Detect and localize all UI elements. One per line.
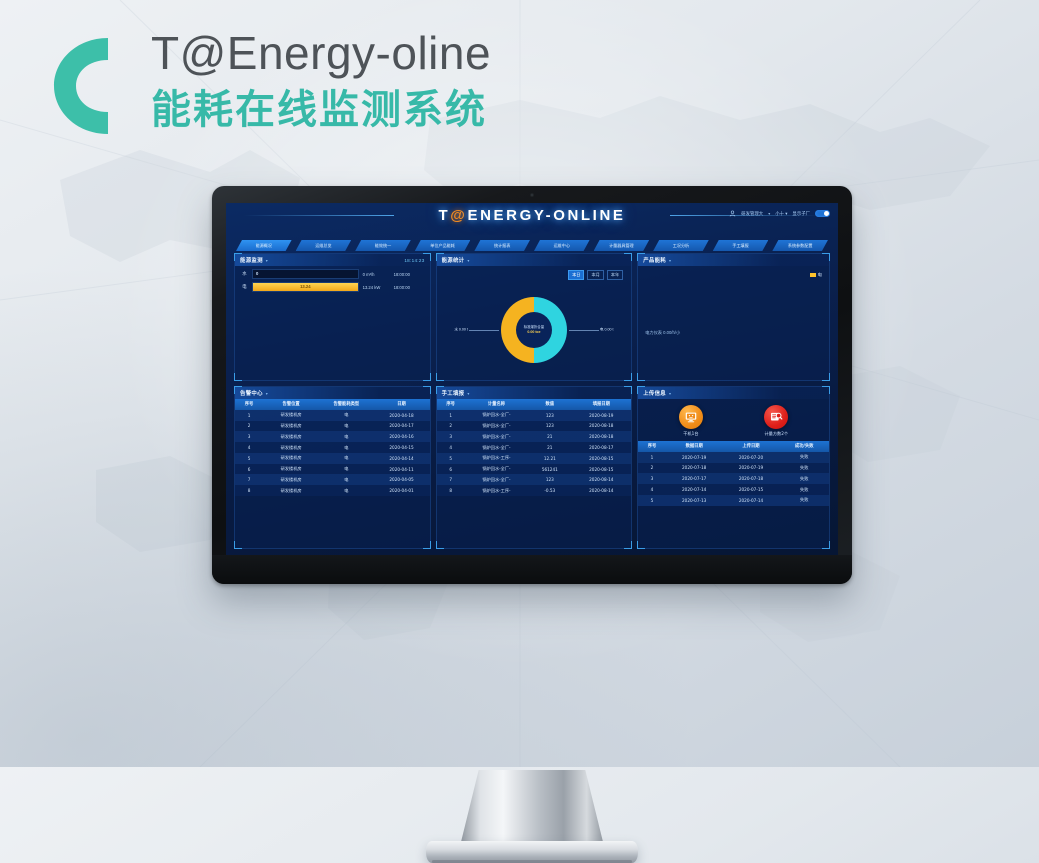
cell-value: 12.21 <box>528 453 571 464</box>
cell-data-date: 2020-07-19 <box>666 452 723 463</box>
panel-header: 产品能耗 ▾ <box>638 254 829 266</box>
bar-value: 13.24 <box>253 283 358 291</box>
bar-timestamp: 18:00:00 <box>394 285 424 290</box>
cell-meter: 锅炉回水-全厂- <box>465 464 529 475</box>
col-date: 填报日期 <box>571 399 631 410</box>
brand-logo-icon <box>46 28 120 144</box>
bar-label: 电 <box>241 284 248 290</box>
nav-item-0[interactable]: 能源概况 <box>236 240 292 251</box>
monitor-stand-base <box>426 841 638 863</box>
cell-index: 3 <box>437 431 465 442</box>
cell-date: 2020-04-14 <box>373 453 429 464</box>
panel-body: 电 电力仪表 0.00/h/小 <box>638 266 829 380</box>
monitor-screen: T@ENERGY-ONLINE 研发管理大 ▾ 小十 ▾ 显示子厂 能源概况 运… <box>226 203 838 555</box>
panel-body: 序号 告警位置 告警能耗类型 日期 1研发楼机房电2020-04-18 2研发楼… <box>235 399 430 548</box>
panel-header: 告警中心 ▾ <box>235 387 430 399</box>
cell-date: 2020-08-15 <box>571 464 631 475</box>
header-wing-left <box>244 215 394 216</box>
table-row[interactable]: 5研发楼机房电2020-04-14 <box>235 453 430 464</box>
header-user-area[interactable]: 研发管理大 ▾ 小十 ▾ 显示子厂 <box>729 210 830 217</box>
cell-date: 2020-08-17 <box>571 442 631 453</box>
status-badge: 失败 <box>779 473 829 484</box>
cell-location: 研发楼机房 <box>263 474 319 485</box>
cell-location: 研发楼机房 <box>263 431 319 442</box>
col-date: 日期 <box>373 399 429 410</box>
panel-more-icon[interactable]: ▾ <box>669 258 671 263</box>
cell-index: 2 <box>437 421 465 432</box>
cell-type: 电 <box>319 421 373 432</box>
cell-date: 2020-08-14 <box>571 485 631 496</box>
panel-body: 水 0 0 m³/h 18:00:00 电 <box>235 266 430 380</box>
upload-card-label: 计量方数2个 <box>764 431 788 437</box>
panel-title: 能源监测 <box>240 256 263 264</box>
monitor: T@ENERGY-ONLINE 研发管理大 ▾ 小十 ▾ 显示子厂 能源概况 运… <box>212 186 852 584</box>
logo-at-icon: @ <box>450 207 467 224</box>
col-index: 序号 <box>638 441 666 452</box>
bar-track: 13.24 <box>252 282 359 292</box>
cell-upload-date: 2020-07-19 <box>723 463 780 474</box>
nav-item-5[interactable]: 运维中心 <box>534 240 590 251</box>
cell-index: 2 <box>638 463 666 474</box>
manual-entry-table: 序号 计量名称 数值 填报日期 1锅炉回水-全厂-1232020-08-19 2… <box>437 399 632 496</box>
segment-day[interactable]: 本日 <box>568 270 584 280</box>
document-search-icon-circle <box>764 405 788 429</box>
cell-index: 5 <box>235 453 263 464</box>
cell-index: 8 <box>235 485 263 496</box>
status-badge: 失败 <box>779 495 829 506</box>
table-row[interactable]: 12020-07-192020-07-20失败 <box>638 452 829 463</box>
panel-product-energy: 产品能耗 ▾ 电 电力仪表 0.00/h/小 <box>637 253 830 381</box>
panel-header: 能源统计 ▾ <box>437 254 632 266</box>
panel-more-icon[interactable]: ▾ <box>467 391 469 396</box>
product-energy-note: 电力仪表 0.00/h/小 <box>645 330 680 336</box>
user-name: 研发管理大 <box>741 211 763 217</box>
cell-meter: 锅炉回水-全厂- <box>465 410 529 421</box>
col-upload-date: 上传日期 <box>723 441 780 452</box>
nav-item-2[interactable]: 能效统一 <box>355 240 411 251</box>
upload-table-wrap: 序号 数据日期 上传日期 成功/失败 12020-07-192020-07-20… <box>638 441 829 506</box>
col-type: 告警能耗类型 <box>319 399 373 410</box>
cell-meter: 锅炉回水-全厂- <box>465 431 529 442</box>
clock-label: 18:14:23 <box>404 258 424 263</box>
panel-body: 序号 计量名称 数值 填报日期 1锅炉回水-全厂-1232020-08-19 2… <box>437 399 632 548</box>
donut-label-water: 水 0.00 t <box>454 328 468 333</box>
panel-title: 上传信息 <box>643 389 666 397</box>
panel-header: 上传信息 ▾ <box>638 387 829 399</box>
cell-index: 6 <box>437 464 465 475</box>
cell-date: 2020-08-18 <box>571 421 631 432</box>
main-nav: 能源概况 运维总览 能效统一 单位产品能耗 统计报表 运维中心 计量器具管理 工… <box>226 239 838 252</box>
panel-more-icon[interactable]: ▾ <box>266 258 268 263</box>
brand-title-en: T@Energy-oline <box>151 22 491 84</box>
cell-index: 3 <box>235 431 263 442</box>
upload-card-meters[interactable]: 计量方数2个 <box>764 405 788 437</box>
cell-meter: 锅炉回水-全厂- <box>465 442 529 453</box>
nav-item-9[interactable]: 系统参数配置 <box>772 240 828 251</box>
cell-index: 6 <box>235 464 263 475</box>
table-row[interactable]: 7锅炉回水-全厂-1232020-08-14 <box>437 474 632 485</box>
table-row[interactable]: 1研发楼机房电2020-04-18 <box>235 410 430 421</box>
cell-location: 研发楼机房 <box>263 442 319 453</box>
table-row[interactable]: 32020-07-172020-07-18失败 <box>638 473 829 484</box>
cell-index: 4 <box>638 484 666 495</box>
cell-upload-date: 2020-07-18 <box>723 473 780 484</box>
show-subplant-toggle[interactable] <box>815 210 830 217</box>
cell-index: 8 <box>437 485 465 496</box>
panel-body: 干机1台 <box>638 399 829 548</box>
cell-date: 2020-08-14 <box>571 474 631 485</box>
panel-alarm-center: 告警中心 ▾ 序号 告警位置 告警能耗类型 日期 1研发 <box>234 386 431 549</box>
segment-year[interactable]: 本年 <box>607 270 623 280</box>
nav-item-7[interactable]: 工况分析 <box>653 240 709 251</box>
cell-index: 3 <box>638 473 666 484</box>
logo-suffix: ENERGY-ONLINE <box>468 207 626 224</box>
donut-leader-right <box>569 330 599 331</box>
brand-title-cn: 能耗在线监测系统 <box>151 84 491 136</box>
bar-unit: 13.24 kW <box>363 285 390 290</box>
webcam-icon <box>530 193 534 197</box>
cell-location: 研发楼机房 <box>263 464 319 475</box>
panel-more-icon[interactable]: ▾ <box>266 391 268 396</box>
dashboard-header: T@ENERGY-ONLINE 研发管理大 ▾ 小十 ▾ 显示子厂 <box>226 203 838 239</box>
table-row[interactable]: 5锅炉回水-工序-12.212020-08-15 <box>437 453 632 464</box>
table-row[interactable]: 8锅炉回水-工序--0.532020-08-14 <box>437 485 632 496</box>
table-row[interactable]: 6锅炉回水-全厂-5612412020-08-15 <box>437 464 632 475</box>
panel-manual-entry: 手工填报 ▾ 序号 计量名称 数值 填报日期 1锅炉回水 <box>436 386 633 549</box>
cell-location: 研发楼机房 <box>263 453 319 464</box>
cell-index: 7 <box>437 474 465 485</box>
cell-index: 2 <box>235 421 263 432</box>
panel-title: 手工填报 <box>442 389 465 397</box>
table-row[interactable]: 8研发楼机房电2020-04-01 <box>235 485 430 496</box>
panel-more-icon[interactable]: ▾ <box>669 391 671 396</box>
energy-bar-row-electric: 电 13.24 13.24 kW 18:00:00 <box>235 279 430 292</box>
cell-index: 1 <box>235 410 263 421</box>
panel-header: 手工填报 ▾ <box>437 387 632 399</box>
user-secondary: 小十 ▾ <box>775 211 787 217</box>
legend-label: 电 <box>818 272 822 278</box>
status-badge: 失败 <box>779 463 829 474</box>
cell-type: 电 <box>319 474 373 485</box>
cell-date: 2020-08-19 <box>571 410 631 421</box>
nav-item-3[interactable]: 单位产品能耗 <box>415 240 471 251</box>
panel-body: 本日 本月 本年 标准煤折合量 0.00 tce <box>437 266 632 380</box>
cell-value: 561241 <box>528 464 571 475</box>
cell-date: 2020-08-15 <box>571 453 631 464</box>
nav-item-1[interactable]: 运维总览 <box>296 240 352 251</box>
table-row[interactable]: 3锅炉回水-全厂-212020-08-18 <box>437 431 632 442</box>
legend-swatch-icon <box>810 273 816 277</box>
cell-location: 研发楼机房 <box>263 410 319 421</box>
table-row[interactable]: 2研发楼机房电2020-04-17 <box>235 421 430 432</box>
chart-legend: 电 <box>810 272 822 278</box>
brand-header: T@Energy-oline 能耗在线监测系统 <box>46 22 606 152</box>
panel-header: 能源监测 ▾ 18:14:23 <box>235 254 430 266</box>
table-row[interactable]: 2锅炉回水-全厂-1232020-08-18 <box>437 421 632 432</box>
cell-upload-date: 2020-07-15 <box>723 484 780 495</box>
nav-item-6[interactable]: 计量器具管理 <box>594 240 650 251</box>
donut-leader-left <box>469 330 499 331</box>
cell-date: 2020-04-16 <box>373 431 429 442</box>
cell-upload-date: 2020-07-20 <box>723 452 780 463</box>
cell-value: 123 <box>528 421 571 432</box>
period-segment-control: 本日 本月 本年 <box>568 270 623 280</box>
dashboard-logo: T@ENERGY-ONLINE <box>439 207 626 224</box>
cell-type: 电 <box>319 442 373 453</box>
col-status: 成功/失败 <box>779 441 829 452</box>
cell-meter: 锅炉回水-工序- <box>465 453 529 464</box>
cell-type: 电 <box>319 453 373 464</box>
cell-date: 2020-04-15 <box>373 442 429 453</box>
cell-date: 2020-08-18 <box>571 431 631 442</box>
cell-data-date: 2020-07-14 <box>666 484 723 495</box>
nav-item-4[interactable]: 统计报表 <box>474 240 530 251</box>
cell-value: 123 <box>528 410 571 421</box>
bar-value: 0 <box>253 270 358 278</box>
table-row[interactable]: 6研发楼机房电2020-04-11 <box>235 464 430 475</box>
cell-index: 5 <box>437 453 465 464</box>
table-row[interactable]: 3研发楼机房电2020-04-16 <box>235 431 430 442</box>
toggle-label: 显示子厂 <box>792 211 810 217</box>
cell-index: 7 <box>235 474 263 485</box>
computer-icon <box>684 410 698 424</box>
cell-meter: 锅炉回水-全厂- <box>465 421 529 432</box>
table-row[interactable]: 7研发楼机房电2020-04-05 <box>235 474 430 485</box>
upload-table: 序号 数据日期 上传日期 成功/失败 12020-07-192020-07-20… <box>638 441 829 506</box>
bar-label: 水 <box>241 271 248 277</box>
table-row[interactable]: 42020-07-142020-07-15失败 <box>638 484 829 495</box>
chevron-down-icon: ▾ <box>768 211 770 216</box>
cell-type: 电 <box>319 464 373 475</box>
cell-date: 2020-04-05 <box>373 474 429 485</box>
panel-more-icon[interactable]: ▾ <box>467 258 469 263</box>
user-icon <box>729 210 736 217</box>
col-location: 告警位置 <box>263 399 319 410</box>
col-index: 序号 <box>437 399 465 410</box>
upload-card-label: 干机1台 <box>679 431 703 437</box>
logo-prefix: T <box>439 207 451 224</box>
dashboard: T@ENERGY-ONLINE 研发管理大 ▾ 小十 ▾ 显示子厂 能源概况 运… <box>226 203 838 555</box>
bar-unit: 0 m³/h <box>363 272 390 277</box>
table-header-row: 序号 数据日期 上传日期 成功/失败 <box>638 441 829 452</box>
donut-label-electric: 电 0.00 t <box>600 328 614 333</box>
table-header-row: 序号 计量名称 数值 填报日期 <box>437 399 632 410</box>
cell-index: 5 <box>638 495 666 506</box>
cell-location: 研发楼机房 <box>263 421 319 432</box>
cell-date: 2020-04-11 <box>373 464 429 475</box>
panel-energy-stats: 能源统计 ▾ 本日 本月 本年 标准煤折合量 <box>436 253 633 381</box>
computer-icon-circle <box>679 405 703 429</box>
table-row[interactable]: 52020-07-132020-07-14失败 <box>638 495 829 506</box>
table-row[interactable]: 4锅炉回水-全厂-212020-08-17 <box>437 442 632 453</box>
panel-title: 能源统计 <box>442 256 465 264</box>
segment-month[interactable]: 本月 <box>587 270 603 280</box>
col-meter-name: 计量名称 <box>465 399 529 410</box>
cell-index: 1 <box>437 410 465 421</box>
cell-meter: 锅炉回水-工序- <box>465 485 529 496</box>
monitor-stand-neck <box>460 770 604 846</box>
cell-value: 123 <box>528 474 571 485</box>
cell-value: 21 <box>528 431 571 442</box>
table-row[interactable]: 4研发楼机房电2020-04-15 <box>235 442 430 453</box>
dashboard-grid: 能源监测 ▾ 18:14:23 水 0 0 m³/h 18:00:00 <box>234 253 830 549</box>
panel-title: 告警中心 <box>240 389 263 397</box>
bar-track: 0 <box>252 269 359 279</box>
manual-entry-table-body: 1锅炉回水-全厂-1232020-08-19 2锅炉回水-全厂-1232020-… <box>437 410 632 496</box>
bar-timestamp: 18:00:00 <box>394 272 424 277</box>
cell-location: 研发楼机房 <box>263 485 319 496</box>
col-index: 序号 <box>235 399 263 410</box>
cell-index: 4 <box>235 442 263 453</box>
donut-chart-wrap: 标准煤折合量 0.00 tce 水 0.00 t 电 0.00 t <box>437 286 632 374</box>
document-search-icon <box>769 410 783 424</box>
panel-upload-info: 上传信息 ▾ <box>637 386 830 549</box>
cell-data-date: 2020-07-18 <box>666 463 723 474</box>
status-badge: 失败 <box>779 452 829 463</box>
alarm-table: 序号 告警位置 告警能耗类型 日期 1研发楼机房电2020-04-18 2研发楼… <box>235 399 430 496</box>
status-badge: 失败 <box>779 484 829 495</box>
cell-meter: 锅炉回水-全厂- <box>465 474 529 485</box>
table-row[interactable]: 22020-07-182020-07-19失败 <box>638 463 829 474</box>
cell-index: 1 <box>638 452 666 463</box>
donut-center-value: 0.00 tce <box>527 330 540 335</box>
cell-index: 4 <box>437 442 465 453</box>
cell-date: 2020-04-01 <box>373 485 429 496</box>
monitor-chin <box>212 555 852 584</box>
cell-data-date: 2020-07-17 <box>666 473 723 484</box>
col-data-date: 数据日期 <box>666 441 723 452</box>
panel-title: 产品能耗 <box>643 256 666 264</box>
nav-item-8[interactable]: 手工填报 <box>713 240 769 251</box>
cell-date: 2020-04-17 <box>373 421 429 432</box>
table-header-row: 序号 告警位置 告警能耗类型 日期 <box>235 399 430 410</box>
cell-type: 电 <box>319 485 373 496</box>
cell-type: 电 <box>319 431 373 442</box>
col-value: 数值 <box>528 399 571 410</box>
alarm-table-body: 1研发楼机房电2020-04-18 2研发楼机房电2020-04-17 3研发楼… <box>235 410 430 496</box>
upload-card-devices[interactable]: 干机1台 <box>679 405 703 437</box>
donut-chart: 标准煤折合量 0.00 tce 水 0.00 t 电 0.00 t <box>501 297 567 363</box>
donut-center: 标准煤折合量 0.00 tce <box>516 312 552 348</box>
panel-energy-monitor: 能源监测 ▾ 18:14:23 水 0 0 m³/h 18:00:00 <box>234 253 431 381</box>
table-row[interactable]: 1锅炉回水-全厂-1232020-08-19 <box>437 410 632 421</box>
cell-data-date: 2020-07-13 <box>666 495 723 506</box>
cell-value: -0.53 <box>528 485 571 496</box>
cell-type: 电 <box>319 410 373 421</box>
energy-bar-row-water: 水 0 0 m³/h 18:00:00 <box>235 266 430 279</box>
upload-table-body: 12020-07-192020-07-20失败 22020-07-182020-… <box>638 452 829 506</box>
upload-stat-cards: 干机1台 <box>638 399 829 437</box>
cell-date: 2020-04-18 <box>373 410 429 421</box>
cell-value: 21 <box>528 442 571 453</box>
cell-upload-date: 2020-07-14 <box>723 495 780 506</box>
